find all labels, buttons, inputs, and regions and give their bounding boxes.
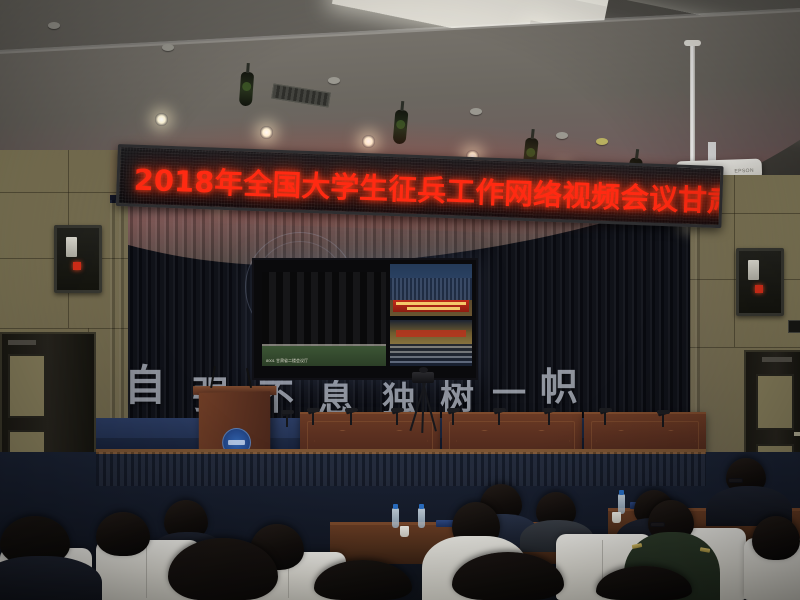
desk-microphone bbox=[604, 412, 606, 425]
wall-seam bbox=[690, 347, 800, 348]
paper-cup bbox=[612, 512, 621, 523]
wall-seam bbox=[0, 192, 128, 193]
smoke-detector-icon bbox=[162, 44, 174, 51]
audience-member bbox=[96, 512, 150, 556]
alarm-status-led-icon bbox=[755, 285, 763, 293]
calligraphy-char: 帜 bbox=[540, 356, 578, 411]
eyeglasses-icon bbox=[728, 478, 743, 483]
door-panel bbox=[756, 374, 794, 430]
water-bottle bbox=[418, 508, 425, 528]
remote-banner bbox=[393, 300, 469, 312]
paper-cup bbox=[400, 526, 409, 537]
screen-bottom-right-panel bbox=[390, 320, 472, 366]
smoke-detector-icon bbox=[596, 138, 608, 145]
smoke-detector-icon bbox=[556, 132, 568, 139]
conference-hall-photo: EPSON 1909 LANZHOU UN bbox=[0, 0, 800, 600]
door-plate bbox=[762, 357, 792, 362]
desk-microphone bbox=[396, 412, 398, 425]
stage-spotlight bbox=[239, 72, 254, 107]
screen-main-panel: 8001 甘肃省二楼会议厅 bbox=[262, 272, 386, 366]
smoke-detector-icon bbox=[48, 22, 60, 29]
screen-top-right-panel bbox=[390, 264, 472, 316]
remote-seating-rows bbox=[390, 344, 472, 366]
desk-microphone bbox=[350, 412, 352, 425]
wall-switch-panel[interactable] bbox=[788, 320, 800, 333]
remote-stage bbox=[396, 330, 466, 337]
ceiling-downlight bbox=[362, 135, 375, 148]
calligraphy-char: 自 bbox=[124, 352, 166, 413]
ceiling-downlight bbox=[260, 126, 273, 139]
projection-screen: 8001 甘肃省二楼会议厅 8002 教育部二楼电视电话会议室 8013 北京市… bbox=[252, 258, 478, 380]
door-plate bbox=[8, 340, 36, 345]
fire-alarm-panel[interactable] bbox=[54, 225, 102, 293]
alarm-status-led-icon bbox=[73, 262, 81, 270]
door-handle-icon[interactable] bbox=[794, 432, 800, 436]
smoke-detector-icon bbox=[328, 77, 340, 84]
ceiling-downlight bbox=[155, 113, 168, 126]
smoke-detector-icon bbox=[470, 108, 482, 115]
fire-alarm-panel[interactable] bbox=[736, 248, 784, 316]
eyeglasses-icon bbox=[650, 522, 665, 527]
remote-audience bbox=[390, 278, 472, 300]
desk-microphone bbox=[286, 414, 288, 427]
camera-tripod bbox=[402, 372, 446, 434]
desk-microphone bbox=[452, 412, 454, 425]
audience-member bbox=[752, 516, 800, 560]
desk-microphone bbox=[548, 412, 550, 425]
stage-wainscot bbox=[96, 452, 706, 486]
screen-main-caption: 8001 甘肃省二楼会议厅 bbox=[266, 358, 308, 364]
water-bottle bbox=[618, 494, 625, 514]
pole-ceiling-cap bbox=[684, 40, 701, 46]
ceiling-support-pole bbox=[690, 44, 695, 164]
alarm-display-icon bbox=[748, 260, 759, 280]
alarm-display-icon bbox=[66, 237, 77, 257]
desk-microphone bbox=[498, 412, 500, 425]
wall-seam bbox=[734, 175, 735, 347]
door-panel bbox=[8, 354, 46, 418]
water-bottle bbox=[392, 508, 399, 528]
desk-microphone bbox=[662, 414, 664, 427]
desk-microphone bbox=[312, 412, 314, 425]
video-camera-icon bbox=[412, 372, 434, 383]
projector-brand-label: EPSON bbox=[734, 168, 754, 175]
wall-seam bbox=[0, 328, 128, 329]
